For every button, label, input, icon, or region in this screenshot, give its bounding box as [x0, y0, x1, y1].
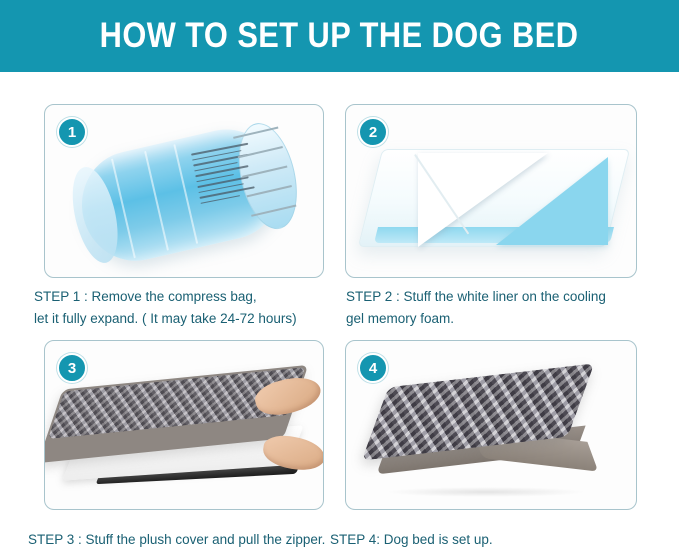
page-title: HOW TO SET UP THE DOG BED [100, 16, 579, 56]
step-4-illustration [346, 341, 636, 509]
step-badge-2: 2 [358, 117, 388, 147]
step-2-caption: STEP 2 : Stuff the white liner on the co… [346, 286, 666, 330]
step-panel-2: 2 [345, 104, 637, 278]
header-banner: HOW TO SET UP THE DOG BED [0, 0, 679, 72]
stuffing-cover-icon [55, 371, 315, 501]
peeled-liner-flap [418, 153, 548, 247]
finished-dog-bed-icon [380, 375, 610, 483]
step-badge-4: 4 [358, 353, 388, 383]
step-badge-3: 3 [57, 353, 87, 383]
step-badge-1: 1 [57, 117, 87, 147]
step-panel-4: 4 [345, 340, 637, 510]
step-2-illustration [346, 105, 636, 277]
step-panel-3: 3 [44, 340, 324, 510]
step-4-caption: STEP 4: Dog bed is set up. [330, 529, 630, 551]
step-3-caption: STEP 3 : Stuff the plush cover and pull … [28, 529, 328, 551]
step-panel-1: 1 [44, 104, 324, 278]
compression-bag-roll-icon [71, 117, 301, 273]
step-1-caption: STEP 1 : Remove the compress bag, let it… [34, 286, 344, 330]
liner-over-gel-foam-icon [370, 131, 616, 251]
drop-shadow [386, 487, 586, 497]
